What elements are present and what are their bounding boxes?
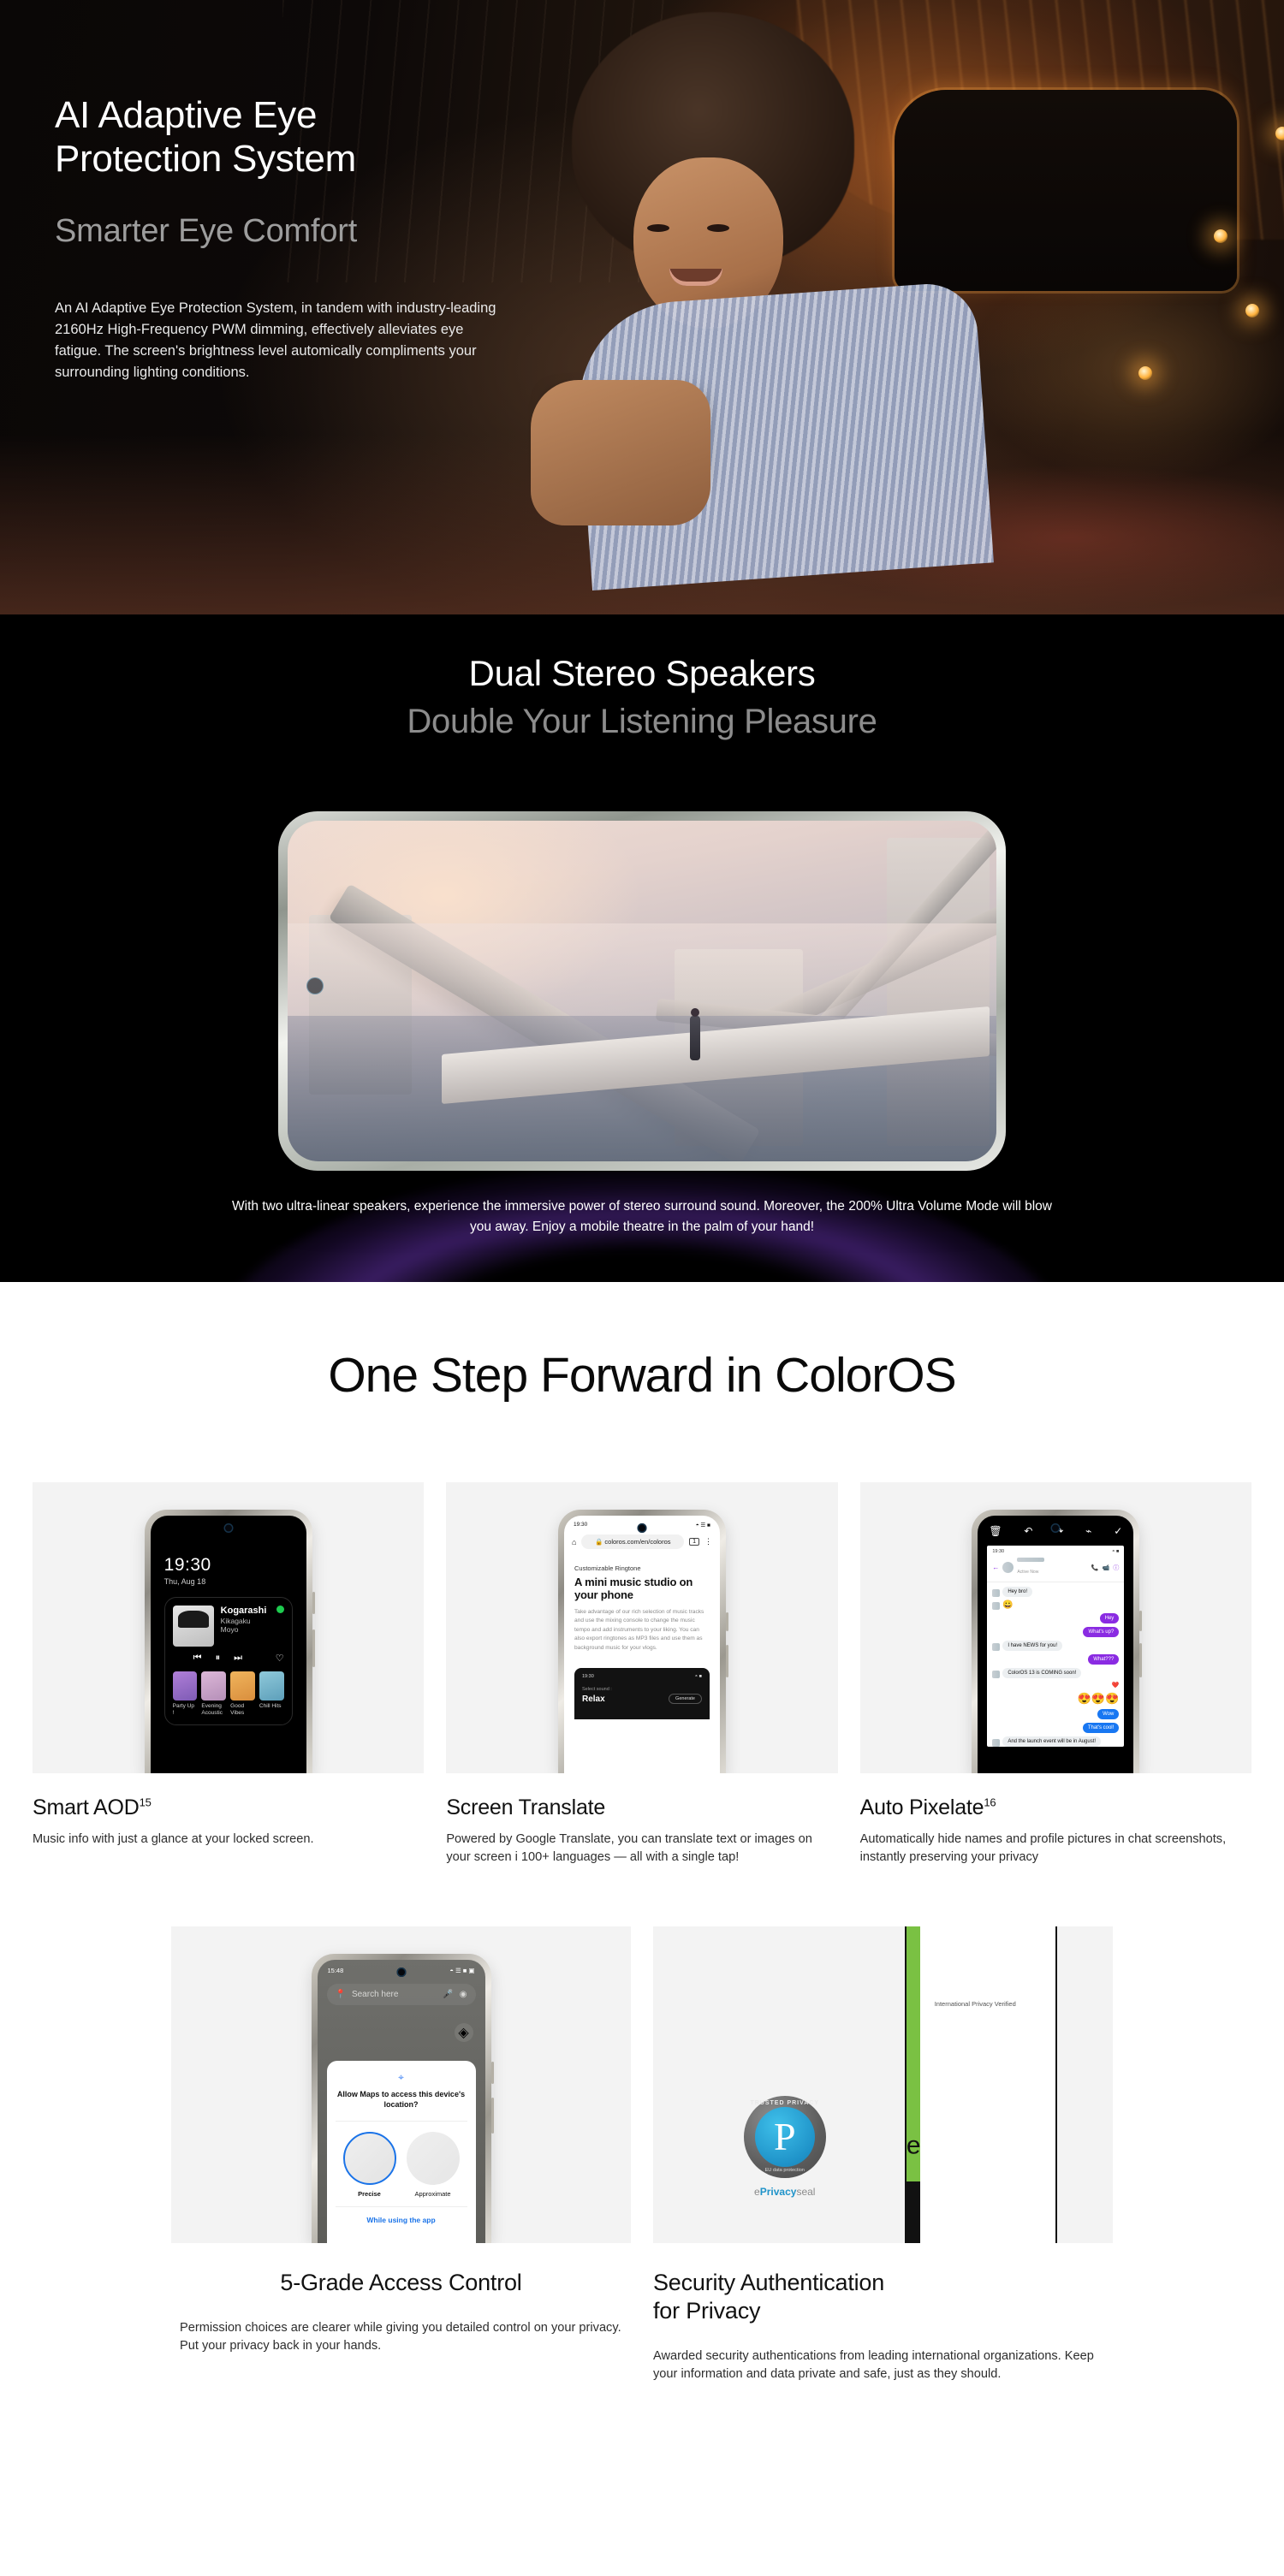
trash-icon[interactable]: 🗑 [989, 1525, 1002, 1537]
certification-badges: INFORMATION SECURITY MANAGEMENT SYSTEM D… [653, 1926, 1113, 2243]
string-light-bulb [1275, 127, 1284, 140]
heart-icon[interactable]: ♡ [276, 1653, 284, 1664]
hero-title: AI Adaptive Eye Protection System [55, 94, 586, 181]
message-bubble: What??? [1088, 1654, 1119, 1665]
back-arrow-icon[interactable]: ← [992, 1564, 999, 1571]
access-control-screenshot: 15:48 ◓ ☰ ■ ▣ 📍 Search here 🎤 ◉ ◈ ⌖ [171, 1926, 631, 2243]
message-bubble: Hey bro! [1002, 1587, 1032, 1597]
feature-card-screen-translate: 19:30 ◓ ☰ ■ ⌂ 🔒 coloros.com/en/coloros 1… [446, 1482, 837, 1867]
message-row: 😀 [992, 1600, 1119, 1610]
footnote-marker: 15 [140, 1796, 152, 1809]
avatar-pixelated [992, 1671, 1000, 1678]
address-bar[interactable]: 🔒 coloros.com/en/coloros [581, 1534, 684, 1549]
precise-map-thumb [343, 2132, 396, 2185]
feature-card-access-control: 15:48 ◓ ☰ ■ ▣ 📍 Search here 🎤 ◉ ◈ ⌖ [171, 1926, 631, 2383]
inner-status-icons: ◓ ■ [695, 1674, 702, 1679]
message-bubble: Hey [1100, 1613, 1120, 1623]
emoji-message: ❤️ [1112, 1682, 1120, 1689]
emoji-message: 😀 [1002, 1600, 1013, 1610]
feature-card-smart-aod: 19:30 Thu, Aug 18 Kogarashi Kikagaku Moy… [33, 1482, 424, 1867]
phone-mockup: 15:48 ◓ ☰ ■ ▣ 📍 Search here 🎤 ◉ ◈ ⌖ [312, 1954, 491, 2243]
card-heading-text: Smart AOD [33, 1795, 140, 1819]
power-button[interactable] [312, 1592, 315, 1614]
approximate-map-thumb [407, 2132, 460, 2185]
playlist-label: Chill Hits [259, 1703, 284, 1710]
badge-truste: TRUSTe International Privacy Verified Po… [905, 1926, 1057, 2243]
location-pin-icon: ⌖ [336, 2071, 467, 2084]
eprivacy-seal: TRUSTED PRIVACY P EU data protection [744, 2096, 826, 2178]
now-playing-row: Kogarashi Kikagaku Moyo [173, 1606, 284, 1647]
phone-mockup: 19:30 Thu, Aug 18 Kogarashi Kikagaku Moy… [145, 1510, 312, 1773]
power-button[interactable] [1139, 1611, 1142, 1631]
auto-pixelate-screenshot: 🗑 ↶ ↷ ⌁ ✓ 19:30 ◓ ■ ← [860, 1482, 1251, 1773]
more-options-icon[interactable]: ⋮ [704, 1537, 712, 1546]
footnote-marker: 16 [984, 1796, 996, 1809]
page-kicker: Customizable Ringtone [574, 1564, 710, 1572]
playlist-thumb [201, 1671, 226, 1701]
info-icon[interactable]: ⓘ [1113, 1564, 1119, 1572]
eye [647, 224, 669, 232]
playback-controls[interactable]: ⏮ ⏸ ⏭ ♡ [173, 1653, 284, 1664]
maps-permission-screen: 15:48 ◓ ☰ ■ ▣ 📍 Search here 🎤 ◉ ◈ ⌖ [318, 1960, 485, 2243]
message-row: That's cool! [992, 1723, 1119, 1733]
hero-copy-block: AI Adaptive Eye Protection System Smarte… [55, 94, 586, 384]
video-icon[interactable]: 📹 [1103, 1564, 1110, 1571]
speakers-body-text: With two ultra-linear speakers, experien… [231, 1196, 1053, 1238]
permission-question: Allow Maps to access this device's locat… [336, 2090, 467, 2110]
front-camera-punch-hole [396, 1968, 406, 1977]
page-content: Customizable Ringtone A mini music studi… [564, 1556, 720, 1661]
option-precise[interactable]: Precise [343, 2132, 396, 2198]
page-headline: A mini music studio on your phone [574, 1576, 710, 1602]
game-hud-icon[interactable] [306, 977, 324, 994]
card-heading-text: Auto Pixelate [860, 1795, 984, 1819]
power-button[interactable] [726, 1612, 728, 1631]
seal-top-text: TRUSTED PRIVACY [744, 2100, 826, 2106]
feature-card-auto-pixelate: 🗑 ↶ ↷ ⌁ ✓ 19:30 ◓ ■ ← [860, 1482, 1251, 1867]
message-list: Hey bro! 😀 Hey What's up? I have NEWS fo… [987, 1582, 1124, 1747]
card-heading: Screen Translate [446, 1795, 837, 1820]
option-label: Precise [343, 2190, 396, 2198]
aod-date: Thu, Aug 18 [164, 1577, 293, 1586]
badge-eprivacyseal: TRUSTED PRIVACY P EU data protection ePr… [744, 2096, 826, 2198]
truste-tagline: International Privacy Verified [924, 2000, 1026, 2243]
caption-part-privacy: Privacy [760, 2186, 797, 2198]
playlist-tiles: Party Up ! Evening Acoustic Good Vibes [173, 1671, 284, 1717]
caption-part-e: e [754, 2186, 760, 2198]
inner-row: Relax Generate [582, 1694, 702, 1704]
while-using-app-button[interactable]: While using the app [336, 2206, 467, 2224]
string-light-bulb [1245, 304, 1259, 318]
card-body: Awarded security authentications from le… [653, 2347, 1113, 2383]
message-row: Hey [992, 1613, 1119, 1623]
phone-mockup: 19:30 ◓ ☰ ■ ⌂ 🔒 coloros.com/en/coloros 1… [558, 1510, 726, 1773]
chat-status-time: 19:30 [992, 1549, 1004, 1554]
card-body: Powered by Google Translate, you can tra… [446, 1831, 837, 1867]
caption-part-seal: seal [796, 2186, 815, 2198]
chat-status-bar: 19:30 ◓ ■ [987, 1546, 1124, 1556]
string-light-bulb [1138, 366, 1152, 380]
permission-options: Precise Approximate [336, 2121, 467, 2198]
dual-stereo-speakers-section: Dual Stereo Speakers Double Your Listeni… [0, 614, 1284, 1282]
phone-mockup: 🗑 ↶ ↷ ⌁ ✓ 19:30 ◓ ■ ← [972, 1510, 1139, 1773]
volume-button[interactable] [726, 1645, 728, 1677]
spotify-status-icon [276, 1606, 284, 1613]
message-row: 😍😍😍 [992, 1692, 1119, 1706]
embedded-ringtone-module: 19:30 ◓ ■ Select sound : Relax Generate [574, 1668, 710, 1719]
contact-status: Active Now [1017, 1570, 1038, 1575]
chat-header: ← Active Now 📞 📹 ⓘ [987, 1556, 1124, 1582]
message-row: ❤️ [992, 1682, 1119, 1689]
message-row: Wow [992, 1709, 1119, 1719]
message-row: What??? [992, 1654, 1119, 1665]
coloros-title: One Step Forward in ColorOS [0, 1347, 1284, 1404]
landscape-phone-mockup [278, 811, 1006, 1171]
playlist-thumb [173, 1671, 198, 1701]
eye [707, 224, 729, 232]
avatar-pixelated [992, 1602, 1000, 1610]
page-paragraph: Take advantage of our rich selection of … [574, 1608, 710, 1653]
status-icons: ◓ ☰ ■ ▣ [449, 1967, 474, 1974]
maps-pin-icon: 📍 [336, 1990, 346, 1999]
message-row: I have NEWS for you! [992, 1641, 1119, 1651]
generate-button[interactable]: Generate [669, 1694, 702, 1704]
aod-screen: 19:30 Thu, Aug 18 Kogarashi Kikagaku Moy… [151, 1516, 306, 1773]
message-row: What's up? [992, 1627, 1119, 1637]
avatar-pixelated [992, 1643, 1000, 1651]
playlist-tile[interactable]: Chill Hits [259, 1671, 284, 1717]
message-bubble: Wow [1097, 1709, 1119, 1719]
seal-letter: P [774, 2117, 796, 2157]
hero-subtitle: Smarter Eye Comfort [55, 213, 586, 250]
coloros-section: One Step Forward in ColorOS 19:30 Thu, A… [0, 1282, 1284, 2436]
prev-icon[interactable]: ⏮ [193, 1653, 202, 1664]
card-heading: Auto Pixelate16 [860, 1795, 1251, 1820]
card-body: Permission choices are clearer while giv… [171, 2319, 631, 2355]
browser-screen: 19:30 ◓ ☰ ■ ⌂ 🔒 coloros.com/en/coloros 1… [564, 1516, 720, 1773]
card-heading: Smart AOD15 [33, 1795, 424, 1820]
address-bar-url: coloros.com/en/coloros [604, 1538, 670, 1546]
hero-title-line-1: AI Adaptive Eye [55, 94, 586, 138]
volume-button[interactable] [1139, 1643, 1142, 1677]
truste-e-icon [907, 1926, 920, 2243]
call-icon[interactable]: 📞 [1091, 1564, 1099, 1571]
speakers-title: Dual Stereo Speakers [0, 653, 1284, 694]
message-bubble: ColorOS 13 is COMING soon! [1002, 1668, 1081, 1678]
maps-search-bar[interactable]: 📍 Search here 🎤 ◉ [327, 1984, 476, 2005]
volume-button[interactable] [312, 1629, 315, 1667]
playlist-label: Evening Acoustic [201, 1703, 226, 1717]
inner-status-time: 19:30 [582, 1674, 594, 1679]
avatar-pixelated [992, 1589, 1000, 1597]
game-character [690, 1016, 700, 1060]
playlist-label: Party Up ! [173, 1703, 198, 1717]
card-heading: 5-Grade Access Control [171, 2269, 631, 2297]
front-camera-punch-hole [637, 1523, 646, 1533]
speakers-subtitle: Double Your Listening Pleasure [0, 703, 1284, 741]
card-heading-text: Screen Translate [446, 1795, 605, 1819]
playlist-label: Good Vibes [230, 1703, 255, 1717]
home-icon[interactable]: ⌂ [572, 1538, 576, 1546]
feature-cards-row-2: 15:48 ◓ ☰ ■ ▣ 📍 Search here 🎤 ◉ ◈ ⌖ [0, 1926, 1284, 2383]
mic-icon[interactable]: 🎤 [443, 1990, 453, 1999]
message-bubble: What's up? [1083, 1627, 1119, 1637]
option-label: Approximate [407, 2190, 460, 2198]
check-icon[interactable]: ✓ [1114, 1525, 1122, 1537]
playlist-tile[interactable]: Good Vibes [230, 1671, 255, 1717]
captured-chat-window: 19:30 ◓ ■ ← Active Now 📞 [987, 1546, 1124, 1747]
emoji-message: 😍😍😍 [1078, 1692, 1120, 1706]
message-row: Hey bro! [992, 1587, 1119, 1597]
avatar [1002, 1562, 1014, 1573]
feature-card-security-authentication: INFORMATION SECURITY MANAGEMENT SYSTEM D… [653, 1926, 1113, 2383]
status-icons: ◓ ☰ ■ [696, 1522, 710, 1528]
album-art [173, 1606, 214, 1647]
string-light-bulb [1214, 229, 1228, 243]
speakers-heading-block: Dual Stereo Speakers Double Your Listeni… [0, 614, 1284, 741]
tab-count-button[interactable]: 1 [689, 1538, 699, 1546]
hand [531, 380, 710, 525]
playlist-tile[interactable]: Evening Acoustic [201, 1671, 226, 1717]
hero-body-text: An AI Adaptive Eye Protection System, in… [55, 298, 500, 383]
card-heading: Security Authentication for Privacy [653, 2269, 1113, 2325]
truste-text-block: TRUSTe International Privacy Verified Po… [920, 1926, 1055, 2243]
contact-name-pixelated [1017, 1558, 1044, 1562]
card-heading-line-2: for Privacy [653, 2297, 1113, 2325]
share-icon[interactable]: ⌁ [1085, 1525, 1091, 1537]
status-time: 19:30 [574, 1522, 587, 1528]
hero-title-line-2: Protection System [55, 138, 586, 181]
search-input[interactable]: Search here [352, 1990, 437, 1999]
seal-bottom-text: EU data protection [744, 2168, 826, 2173]
layers-icon[interactable]: ◈ [455, 2023, 473, 2042]
option-approximate[interactable]: Approximate [407, 2132, 460, 2198]
game-screen [288, 821, 996, 1161]
undo-icon[interactable]: ↶ [1024, 1525, 1032, 1537]
eprivacy-caption: ePrivacyseal [744, 2186, 826, 2198]
message-row: ColorOS 13 is COMING soon! [992, 1668, 1119, 1678]
next-icon[interactable]: ⏭ [234, 1653, 242, 1664]
message-bubble: That's cool! [1083, 1723, 1120, 1733]
playlist-thumb [259, 1671, 284, 1701]
pixelate-editor-screen: 🗑 ↶ ↷ ⌁ ✓ 19:30 ◓ ■ ← [978, 1516, 1133, 1773]
message-row: And the launch event will be in August! [992, 1736, 1119, 1747]
track-artist: Kikagaku Moyo [221, 1617, 270, 1634]
smart-aod-screenshot: 19:30 Thu, Aug 18 Kogarashi Kikagaku Moy… [33, 1482, 424, 1773]
eye-protection-hero: AI Adaptive Eye Protection System Smarte… [0, 0, 1284, 614]
pause-icon[interactable]: ⏸ [216, 1653, 221, 1664]
inner-label: Select sound : [582, 1687, 702, 1692]
certifications-panel: INFORMATION SECURITY MANAGEMENT SYSTEM D… [653, 1926, 1113, 2243]
seal-center: P [755, 2107, 815, 2167]
message-bubble: And the launch event will be in August! [1002, 1736, 1101, 1747]
avatar[interactable]: ◉ [460, 1990, 467, 1999]
inner-status-bar: 19:30 ◓ ■ [582, 1674, 702, 1679]
playlist-tile[interactable]: Party Up ! [173, 1671, 198, 1717]
volume-button[interactable] [491, 2098, 494, 2134]
chat-status-icons: ◓ ■ [1112, 1549, 1119, 1554]
card-body: Automatically hide names and profile pic… [860, 1831, 1251, 1867]
inner-title: Relax [582, 1695, 605, 1704]
front-camera-punch-hole [1051, 1523, 1061, 1533]
card-body: Music info with just a glance at your lo… [33, 1831, 424, 1849]
truste-name: TRUSTe [924, 1926, 1052, 1999]
track-title: Kogarashi [221, 1606, 270, 1616]
avatar-pixelated [992, 1739, 1000, 1747]
browser-toolbar[interactable]: ⌂ 🔒 coloros.com/en/coloros 1 ⋮ [564, 1531, 720, 1556]
status-time: 15:48 [328, 1967, 344, 1974]
now-playing-widget[interactable]: Kogarashi Kikagaku Moyo ⏮ ⏸ ⏭ ♡ [164, 1597, 293, 1725]
card-heading-line-1: Security Authentication [653, 2269, 1113, 2297]
permission-dialog: ⌖ Allow Maps to access this device's loc… [327, 2061, 476, 2243]
power-button[interactable] [491, 2062, 494, 2084]
feature-cards-row-1: 19:30 Thu, Aug 18 Kogarashi Kikagaku Moy… [0, 1482, 1284, 1867]
screen-translate-screenshot: 19:30 ◓ ☰ ■ ⌂ 🔒 coloros.com/en/coloros 1… [446, 1482, 837, 1773]
aod-clock: 19:30 [164, 1555, 293, 1576]
front-camera-punch-hole [223, 1523, 233, 1533]
playlist-thumb [230, 1671, 255, 1701]
message-bubble: I have NEWS for you! [1002, 1641, 1062, 1651]
